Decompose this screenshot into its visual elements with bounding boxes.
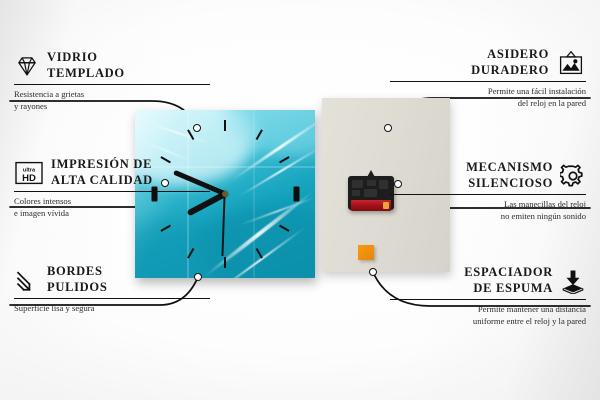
foam-spacer-icon: [560, 268, 586, 294]
infographic-canvas: VIDRIO TEMPLADO Resistencia a grietas y …: [0, 0, 600, 400]
connector-dot-asidero: [384, 124, 392, 132]
battery: [351, 200, 391, 211]
feature-subtitle: Colores intensos e imagen vívida: [14, 196, 210, 219]
feature-title: IMPRESIÓN DE ALTA CALIDAD: [51, 157, 153, 188]
connector-dot-vidrio: [193, 124, 201, 132]
divider: [390, 194, 586, 195]
feature-subtitle: Las manecillas del reloj no emiten ningú…: [390, 199, 586, 222]
feature-vidrio-templado: VIDRIO TEMPLADO Resistencia a grietas y …: [14, 50, 210, 112]
feature-title: BORDES PULIDOS: [47, 264, 107, 295]
clock-center-cap: [222, 191, 228, 197]
divider: [390, 299, 586, 300]
wall-hanger-icon: [556, 50, 586, 76]
feature-title: MECANISMO SILENCIOSO: [466, 160, 553, 191]
diamond-icon: [14, 53, 40, 79]
feature-subtitle: Resistencia a grietas y rayones: [14, 89, 210, 112]
feature-title: ASIDERO DURADERO: [471, 47, 549, 78]
feature-mecanismo-silencioso: MECANISMO SILENCIOSO Las manecillas del …: [390, 160, 586, 222]
clock-second-hand: [222, 194, 226, 256]
foam-spacer-sample: [358, 245, 374, 260]
feature-title: ESPACIADOR DE ESPUMA: [464, 265, 553, 296]
feature-subtitle: Superficie lisa y segura: [14, 303, 210, 315]
divider: [14, 191, 210, 192]
clock-mechanism: [348, 170, 394, 210]
feature-asidero-duradero: ASIDERO DURADERO Permite una fácil insta…: [390, 47, 586, 109]
feature-impresion-alta-calidad: ultra HD IMPRESIÓN DE ALTA CALIDAD Color…: [14, 157, 210, 219]
feature-bordes-pulidos: BORDES PULIDOS Superficie lisa y segura: [14, 264, 210, 315]
divider: [390, 81, 586, 82]
feature-subtitle: Permite una fácil instalación del reloj …: [390, 86, 586, 109]
connector-dot-espaciador: [369, 268, 377, 276]
feature-subtitle: Permite mantener una distancia uniforme …: [390, 304, 586, 327]
polished-edges-icon: [14, 267, 40, 293]
svg-text:HD: HD: [22, 172, 36, 183]
ultra-hd-icon: ultra HD: [14, 160, 44, 186]
feature-espaciador-de-espuma: ESPACIADOR DE ESPUMA Permite mantener un…: [390, 265, 586, 327]
gear-icon: [560, 163, 586, 189]
divider: [14, 84, 210, 85]
divider: [14, 298, 210, 299]
feature-title: VIDRIO TEMPLADO: [47, 50, 125, 81]
